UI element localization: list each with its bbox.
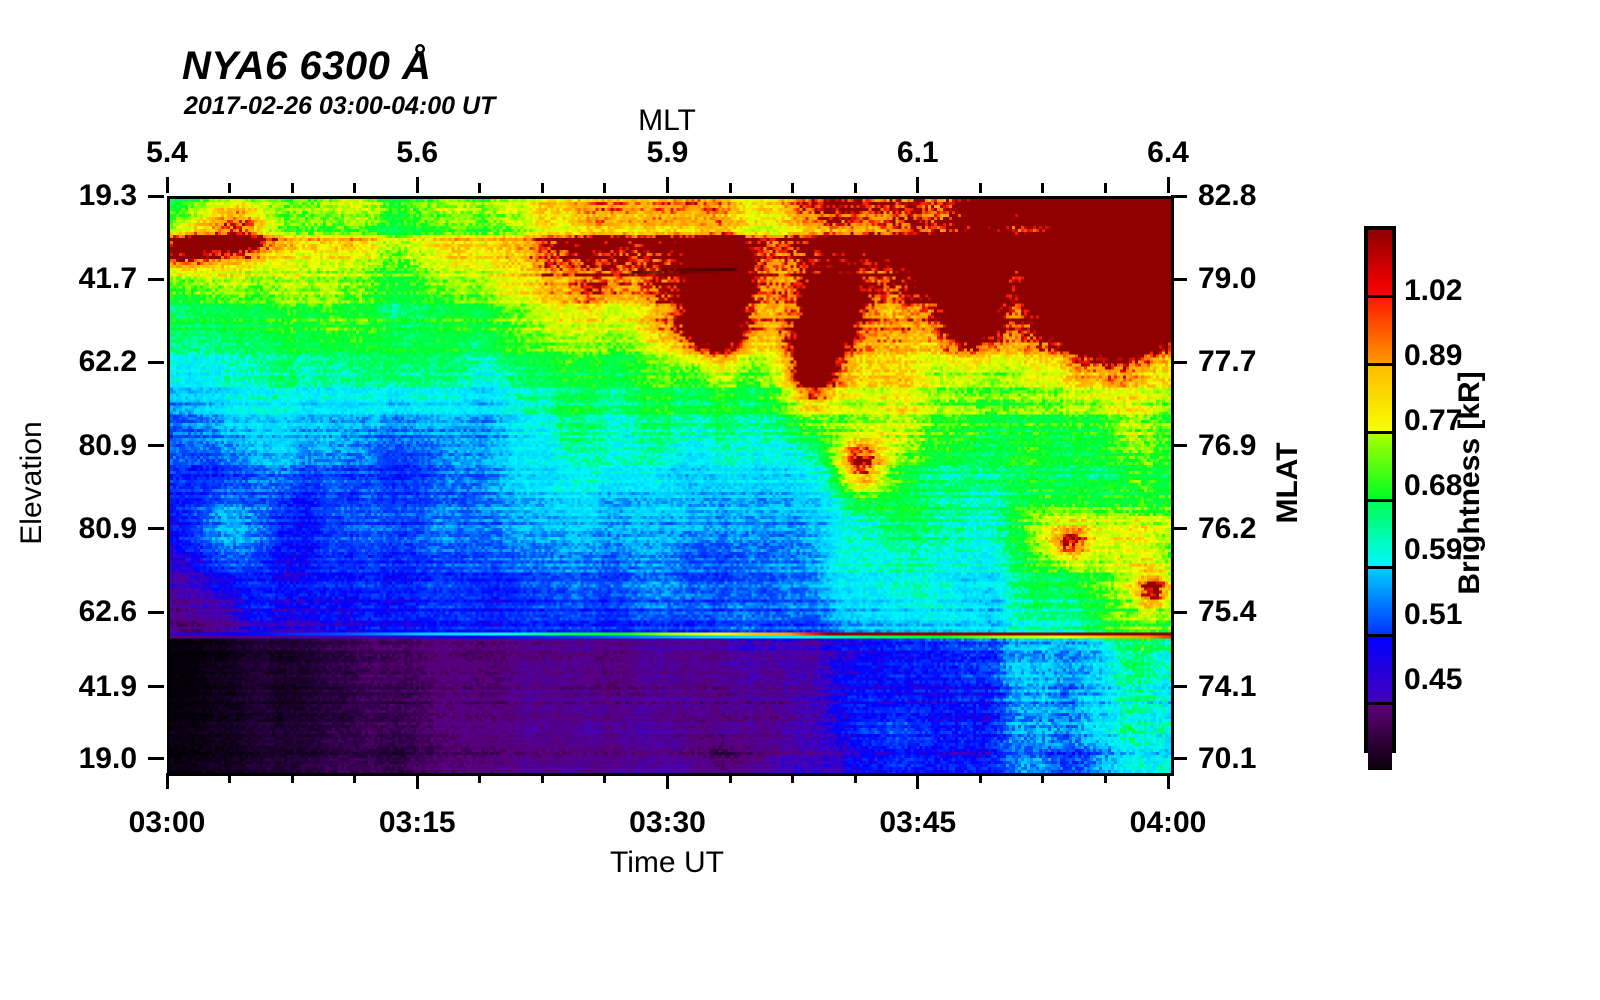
y-tick-label: 41.9 [79, 670, 137, 704]
x-tick-minor [791, 773, 794, 783]
mlat-tick-label: 82.8 [1198, 179, 1256, 213]
y-tick-label: 62.6 [79, 595, 137, 629]
mlt-tick-major [666, 177, 669, 193]
x-tick-major [916, 773, 919, 789]
x-axis-title: Time UT [610, 846, 724, 880]
mlat-tick-label: 75.4 [1198, 595, 1256, 629]
mlt-tick-major [916, 177, 919, 193]
colorbar-segment [1368, 363, 1392, 431]
x-tick-minor [291, 773, 294, 783]
mlt-tick-minor [478, 183, 481, 193]
mlat-tick-major [1171, 757, 1187, 760]
x-tick-minor [854, 773, 857, 783]
colorbar-tick-label: 0.89 [1404, 339, 1462, 373]
x-tick-minor [228, 773, 231, 783]
colorbar-tick-label: 0.51 [1404, 598, 1462, 632]
colorbar-tick-label: 0.77 [1404, 404, 1462, 438]
mlat-tick-label: 76.9 [1198, 429, 1256, 463]
x-tick-minor [603, 773, 606, 783]
mlt-tick-minor [291, 183, 294, 193]
colorbar-tick-label: 0.45 [1404, 663, 1462, 697]
colorbar-segment [1368, 295, 1392, 363]
mlat-tick-major [1171, 611, 1187, 614]
x-tick-label: 03:45 [879, 806, 956, 840]
top-axis-title: MLT [638, 104, 696, 138]
x-tick-major [666, 773, 669, 789]
x-tick-minor [353, 773, 356, 783]
mlt-tick-minor [353, 183, 356, 193]
y-tick-major [148, 611, 164, 614]
mlat-tick-major [1171, 685, 1187, 688]
x-tick-major [1167, 773, 1170, 789]
mlat-tick-major [1171, 527, 1187, 530]
mlat-tick-label: 79.0 [1198, 262, 1256, 296]
page-subtitle: 2017-02-26 03:00-04:00 UT [184, 92, 495, 121]
y-tick-label: 41.7 [79, 262, 137, 296]
mlt-tick-minor [541, 183, 544, 193]
y-axis-title: Elevation [15, 421, 49, 544]
x-tick-label: 03:00 [129, 806, 206, 840]
x-tick-label: 03:15 [379, 806, 456, 840]
mlt-tick-major [166, 177, 169, 193]
x-tick-minor [979, 773, 982, 783]
x-tick-minor [1041, 773, 1044, 783]
colorbar-segment [1368, 499, 1392, 567]
mlt-tick-minor [1104, 183, 1107, 193]
mlt-tick-minor [729, 183, 732, 193]
mlt-tick-major [416, 177, 419, 193]
y-tick-label: 19.3 [79, 179, 137, 213]
mlt-tick-minor [228, 183, 231, 193]
mlat-tick-major [1171, 278, 1187, 281]
mlat-tick-major [1171, 195, 1187, 198]
mlat-tick-label: 70.1 [1198, 742, 1256, 776]
x-tick-minor [541, 773, 544, 783]
mlt-tick-minor [854, 183, 857, 193]
mlt-tick-major [1167, 177, 1170, 193]
colorbar-segment [1368, 566, 1392, 634]
y-tick-major [148, 361, 164, 364]
mlat-tick-label: 74.1 [1198, 670, 1256, 704]
mlt-tick-minor [603, 183, 606, 193]
mlt-tick-label: 6.4 [1147, 136, 1189, 170]
y-tick-major [148, 195, 164, 198]
y-tick-major [148, 527, 164, 530]
y-tick-label: 62.2 [79, 345, 137, 379]
colorbar-tick-label: 1.02 [1404, 274, 1462, 308]
y-tick-major [148, 278, 164, 281]
mlat-tick-major [1171, 361, 1187, 364]
x-tick-label: 03:30 [629, 806, 706, 840]
x-tick-label: 04:00 [1130, 806, 1207, 840]
y-tick-major [148, 444, 164, 447]
colorbar-segment [1368, 702, 1392, 770]
mlt-tick-label: 5.6 [396, 136, 438, 170]
mlat-tick-major [1171, 444, 1187, 447]
mlt-tick-label: 5.9 [647, 136, 689, 170]
x-tick-minor [478, 773, 481, 783]
mlat-tick-label: 76.2 [1198, 512, 1256, 546]
mlt-tick-label: 6.1 [897, 136, 939, 170]
keogram-image [170, 199, 1171, 773]
mlt-tick-minor [979, 183, 982, 193]
y-tick-major [148, 757, 164, 760]
y-tick-label: 19.0 [79, 742, 137, 776]
colorbar-segment [1368, 634, 1392, 702]
y-tick-label: 80.9 [79, 512, 137, 546]
x-tick-minor [1104, 773, 1107, 783]
keogram-plot-area [167, 196, 1174, 776]
mlt-tick-label: 5.4 [146, 136, 188, 170]
colorbar-tick-label: 0.68 [1404, 469, 1462, 503]
colorbar-segment [1368, 431, 1392, 499]
mlt-tick-minor [1041, 183, 1044, 193]
right-axis-title: MLAT [1271, 442, 1305, 523]
colorbar-segment [1368, 230, 1392, 295]
colorbar-tick-label: 0.59 [1404, 533, 1462, 567]
colorbar [1364, 226, 1396, 753]
x-tick-major [166, 773, 169, 789]
mlt-tick-minor [791, 183, 794, 193]
page-title: NYA6 6300 Å [182, 44, 431, 89]
mlat-tick-label: 77.7 [1198, 345, 1256, 379]
x-tick-minor [729, 773, 732, 783]
y-tick-major [148, 685, 164, 688]
x-tick-major [416, 773, 419, 789]
y-tick-label: 80.9 [79, 429, 137, 463]
